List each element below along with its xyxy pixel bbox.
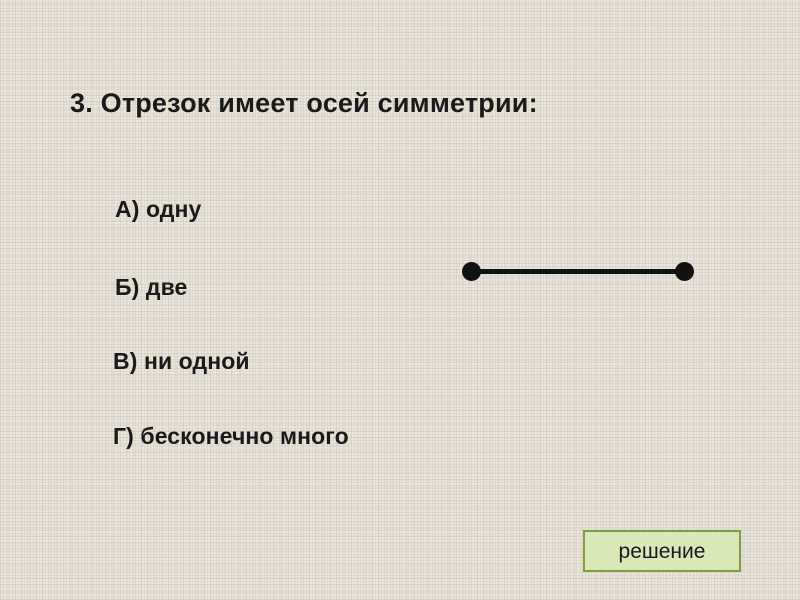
solution-button[interactable]: решение <box>583 530 741 572</box>
segment-line <box>472 269 684 274</box>
answer-option-a[interactable]: А) одну <box>115 196 201 223</box>
slide-canvas: 3. Отрезок имеет осей симметрии: А) одну… <box>0 0 800 600</box>
solution-button-label: решение <box>619 541 706 562</box>
segment-endpoint-left-dot <box>462 262 481 281</box>
answer-option-v[interactable]: В) ни одной <box>113 348 250 375</box>
answer-option-g[interactable]: Г) бесконечно много <box>113 423 349 450</box>
segment-endpoint-right-dot <box>675 262 694 281</box>
answer-option-b[interactable]: Б) две <box>115 274 187 301</box>
line-segment-figure <box>462 258 694 286</box>
page-title: 3. Отрезок имеет осей симметрии: <box>70 88 538 119</box>
